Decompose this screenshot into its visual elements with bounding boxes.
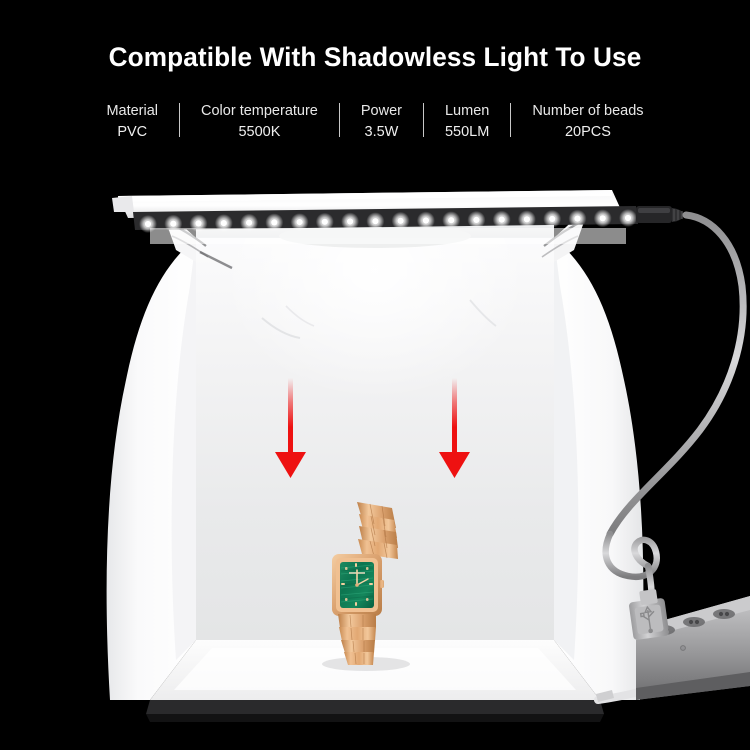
power-accessories [0,0,750,750]
usb-plug-collar [639,589,658,605]
usb-plug [629,589,670,640]
power-strip-screw [681,646,686,651]
usb-cable-upper [610,215,743,534]
light-box-photo [0,0,750,750]
product-marketing-image: Compatible With Shadowless Light To Use … [0,0,750,750]
led-strip-connector [636,206,684,223]
